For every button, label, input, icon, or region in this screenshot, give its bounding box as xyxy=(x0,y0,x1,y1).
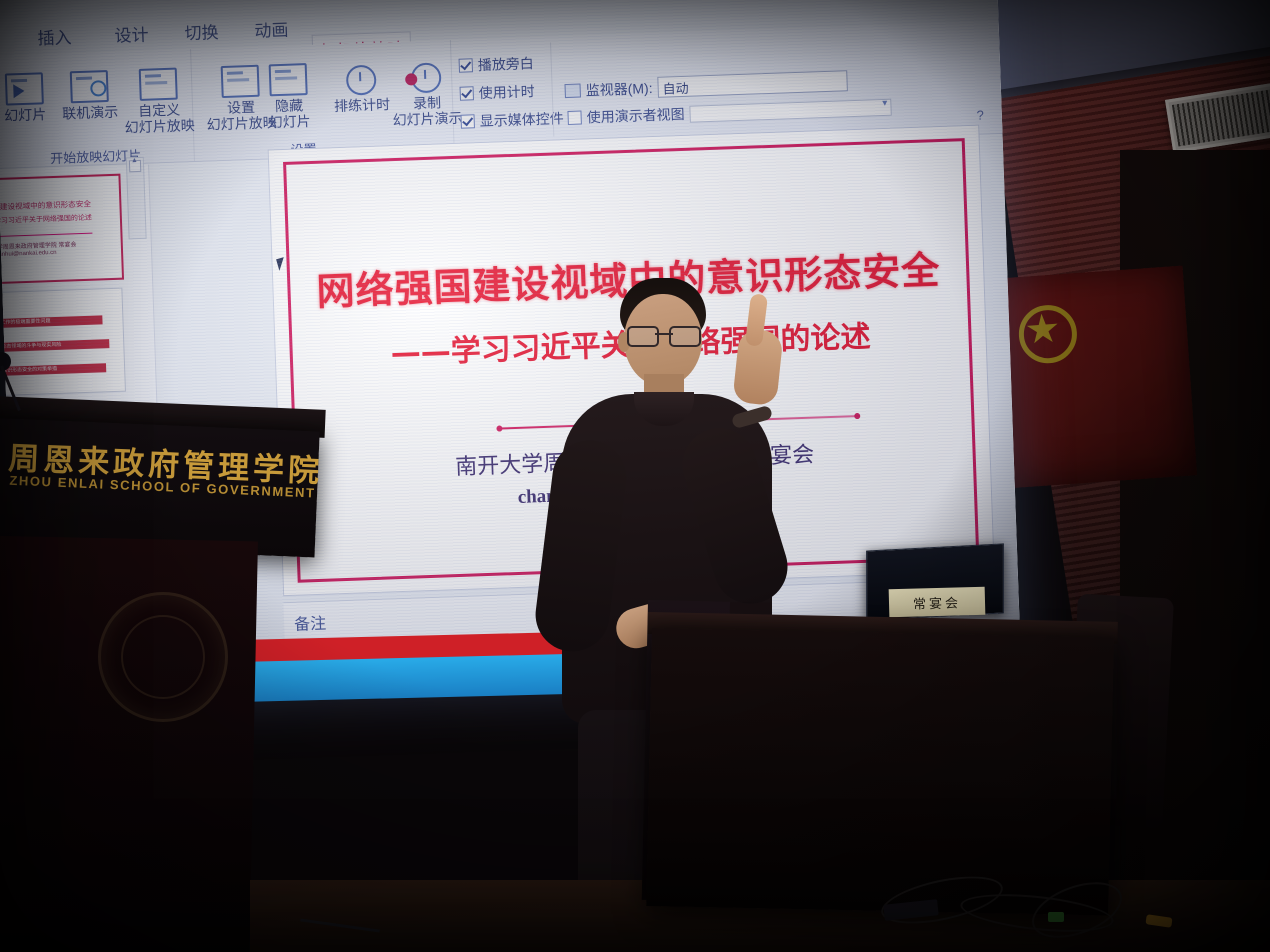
name-card: 常宴会 xyxy=(889,587,986,618)
glasses-bridge xyxy=(655,333,673,335)
thumbnail-subtitle: ——学习习近平关于网络强国的论述 xyxy=(0,213,92,227)
thumbnail-divider xyxy=(0,233,92,238)
globe-monitor-icon xyxy=(70,70,109,103)
play-icon xyxy=(5,72,44,105)
ribbon-group-monitors: 监视器(M): 自动 使用演示者视图 监视器 xyxy=(550,35,774,137)
tab-design[interactable]: 设计 xyxy=(108,18,155,49)
ribbon-group-set-up: 设置 幻灯片放映 隐藏 幻灯片 排练计时 xyxy=(190,40,455,161)
rehearse-timings-label: 排练计时 xyxy=(334,97,391,115)
hide-slide-label2: 幻灯片 xyxy=(268,114,311,131)
checkbox-show-media-controls[interactable]: 显示媒体控件 xyxy=(460,108,564,132)
help-icon[interactable]: ? xyxy=(976,107,984,122)
clock-icon xyxy=(346,65,377,96)
thumbnail-bar-text: 意识形态工作的极端重要性问题 xyxy=(0,317,51,328)
glasses-lens-right xyxy=(669,326,701,347)
monitor-select[interactable]: 自动 xyxy=(657,70,848,98)
group-label-start-slide-show: 开始放映幻灯片 xyxy=(0,143,194,169)
record-clock-icon xyxy=(411,62,442,93)
monitor-icon xyxy=(564,83,580,98)
thumbnail-bar: 我国意识形态领域的斗争与现实风险 xyxy=(0,339,109,353)
lecture-hall-photo: 【政府学院党课】习近平关于网络强国论述研究（常宴会，2021年11月22日） -… xyxy=(0,0,1270,952)
hide-slide-button[interactable]: 隐藏 幻灯片 xyxy=(267,63,311,131)
tab-transitions[interactable]: 切换 xyxy=(178,16,225,47)
podium-body xyxy=(0,536,258,952)
checkbox-icon xyxy=(459,58,473,72)
ribbon-group-start-slide-show: 幻灯片 联机演示 自定义 幻灯片放映 开始放映幻灯片 xyxy=(0,49,195,168)
checkbox-play-narrations[interactable]: 播放旁白 xyxy=(458,53,534,76)
checkbox-icon xyxy=(567,111,581,125)
thumbnail-slide-1[interactable]: 网络强国建设视域中的意识形态安全 ——学习习近平关于网络强国的论述 南开大学周恩… xyxy=(0,174,124,286)
glasses-lens-left xyxy=(627,326,659,347)
scroll-up-arrow-icon[interactable] xyxy=(129,160,141,172)
from-beginning-button[interactable]: 幻灯片 xyxy=(3,72,47,124)
play-narrations-label: 播放旁白 xyxy=(477,53,534,75)
checkbox-icon xyxy=(460,114,474,128)
thumbnail-bar-text: 我国意识形态领域的斗争与现实风险 xyxy=(0,341,61,353)
checkbox-use-presenter-view[interactable]: 使用演示者视图 xyxy=(567,97,892,128)
thumbnail-bar: 意识形态工作的极端重要性问题 xyxy=(0,315,103,328)
custom-slide-show-label2: 幻灯片放映 xyxy=(124,118,195,136)
microphone xyxy=(0,352,30,396)
thumbnail-title: 网络强国建设视域中的意识形态安全 xyxy=(0,199,91,214)
desk-front-panel xyxy=(646,628,1114,916)
setup-monitor-icon xyxy=(221,65,260,98)
use-timings-label: 使用计时 xyxy=(478,81,535,103)
monitor-row: 监视器(M): 自动 xyxy=(564,70,847,101)
present-online-button[interactable]: 联机演示 xyxy=(61,70,119,123)
set-up-label2: 幻灯片放映 xyxy=(206,115,277,133)
notes-placeholder: 备注 xyxy=(294,610,327,635)
rehearse-timings-button[interactable]: 排练计时 xyxy=(333,64,391,115)
green-connector xyxy=(1048,912,1064,922)
nankai-university-seal-icon xyxy=(98,592,228,722)
checkbox-icon xyxy=(460,86,474,100)
custom-show-icon xyxy=(139,68,178,101)
thumbnail-email: changyanhui@nankai.edu.cn xyxy=(0,250,57,259)
presenter-glasses-icon xyxy=(627,326,701,343)
ribbon-checkbox-column: 播放旁白 使用计时 显示媒体控件 xyxy=(450,36,564,152)
tab-animations[interactable]: 动画 xyxy=(248,13,295,44)
record-dot-icon xyxy=(405,73,417,85)
presenter-view-label: 使用演示者视图 xyxy=(586,104,685,127)
presenter-view-combo[interactable] xyxy=(689,98,891,122)
present-online-label: 联机演示 xyxy=(62,105,119,123)
checkbox-use-timings[interactable]: 使用计时 xyxy=(459,81,535,104)
show-media-controls-label: 显示媒体控件 xyxy=(479,108,564,131)
from-beginning-label: 幻灯片 xyxy=(4,107,47,124)
monitor-label: 监视器(M): xyxy=(585,78,653,100)
custom-slide-show-button[interactable]: 自定义 幻灯片放映 xyxy=(123,67,195,136)
hide-slide-icon xyxy=(269,63,308,96)
tab-insert[interactable]: 插入 xyxy=(31,21,78,52)
communist-youth-league-flag xyxy=(993,266,1197,489)
thumbnail-scrollbar[interactable] xyxy=(126,157,147,240)
